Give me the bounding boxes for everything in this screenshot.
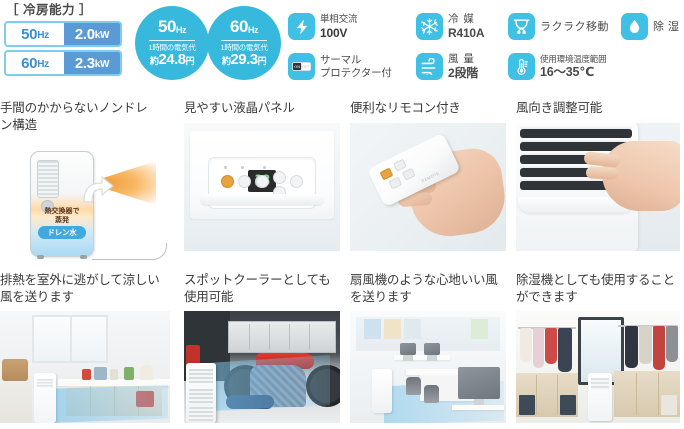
remote-brand-mark: REMOTE: [421, 170, 441, 183]
caster-wheel-icon: [508, 13, 535, 40]
office-photo: [350, 311, 506, 423]
feature-caption: スポットクーラーとしても使用可能: [184, 272, 340, 305]
product-feature-page: ［ 冷房能力 ］ 50Hz 2.0kW 60Hz 2.3kW 50Hz 1時間の…: [0, 0, 684, 429]
feature-cell-remote: 便利なリモコン付き REMOTE: [350, 100, 510, 251]
hanging-garment: [625, 326, 638, 368]
cool-airflow: [210, 355, 330, 411]
swing-button[interactable]: [290, 175, 303, 188]
desk-item: [140, 365, 154, 380]
status-led: [241, 166, 244, 169]
power-cord: [92, 243, 167, 260]
capacity-row-50hz: 50Hz 2.0kW: [4, 21, 122, 47]
capacity-50hz-value: 2.0kW: [64, 23, 120, 45]
cost-badge-50hz: 50Hz 1時間の電気代 約24.8円: [135, 6, 209, 80]
evaporation-label: 熱交換器で 蒸発: [31, 208, 93, 225]
wall-poster: [384, 319, 401, 339]
feature-caption: 除湿機としても使用することができます: [516, 272, 676, 305]
storage-cube: [661, 395, 677, 415]
thermometer-icon: [508, 53, 535, 80]
spec-item-thermal-protector: ON OFF サーマル プロテクター付: [288, 53, 392, 80]
spec-item-mobility-text: ラクラク移動: [540, 21, 609, 33]
desk: [452, 405, 504, 410]
desk-item: [94, 367, 107, 380]
timer-button[interactable]: [256, 175, 269, 188]
feature-caption: 手間のかからないノンドレン構造: [0, 100, 152, 133]
cool-airflow: [50, 385, 168, 423]
feature-cell-fan-like: 扇風機のような心地いい風を送ります: [350, 272, 510, 423]
monitor: [424, 343, 440, 355]
remote-power-button[interactable]: [380, 167, 394, 180]
unit-foot: [80, 255, 87, 259]
closet-photo: [516, 311, 680, 423]
nondrain-illustration: 熱交換器で 蒸発 ドレン水: [0, 139, 170, 267]
unit-foot: [37, 255, 44, 259]
spec-item-refrigerant-text: 冷 媒 R410A: [448, 13, 484, 40]
feature-cell-nondrain: 手間のかからないノンドレン構造 熱交換器で 蒸発 ドレン水: [0, 100, 172, 267]
window: [32, 315, 108, 363]
hanging-garment: [558, 328, 572, 372]
spec-item-dehumidify: 除 湿: [621, 13, 680, 40]
cost-badge-60hz: 60Hz 1時間の電気代 約29.3円: [207, 6, 281, 80]
portable-ac-unit: [372, 369, 392, 413]
feature-caption: 見やすい液晶パネル: [184, 100, 344, 117]
spec-item-refrigerant: 冷 媒 R410A: [416, 13, 484, 40]
feature-caption: 風向き調整可能: [516, 100, 684, 117]
spec-item-power: 単相交流 100V: [288, 13, 357, 40]
hanging-garment: [653, 326, 665, 370]
office-chair: [424, 385, 439, 403]
spec-item-temp-range-text: 使用環境温度範囲 16〜35℃: [540, 54, 606, 79]
unit-front-body: 28 MAC-20N: [190, 131, 334, 219]
snowflake-icon: [416, 13, 443, 40]
unit-air-outlet: [200, 194, 324, 205]
feature-cell-spot-cooler: スポットクーラーとしても使用可能: [184, 272, 344, 423]
unit-grille: [37, 160, 59, 198]
feature-cell-lcd-panel: 見やすい液晶パネル 28: [184, 100, 344, 251]
lightning-bolt-icon: [288, 13, 315, 40]
spec-item-airflow: 風 量 2段階: [416, 53, 478, 80]
feature-cell-louver: 風向き調整可能: [516, 100, 684, 251]
monitor: [458, 367, 500, 399]
spec-item-mobility: ラクラク移動: [508, 13, 609, 40]
desk-item: [110, 369, 118, 380]
monitor: [400, 343, 416, 355]
drain-water-label: ドレン水: [38, 226, 86, 239]
feature-cell-dehumidifier: 除湿機としても使用することができます: [516, 272, 684, 423]
bed-headboard: [2, 359, 28, 381]
cost-badge-60hz-hz: 60Hz: [230, 18, 258, 38]
desk-item: [82, 369, 91, 380]
svg-text:OFF: OFF: [302, 64, 309, 69]
spec-item-dehumidify-text: 除 湿: [653, 21, 680, 33]
feature-cell-exhaust-outside: 排熱を室外に逃がして涼しい風を送ります: [0, 272, 172, 423]
hanging-garment: [545, 328, 557, 364]
garage-photo: [184, 311, 340, 423]
portable-ac-unit: [186, 363, 216, 423]
water-drop-icon: [621, 13, 648, 40]
airflow-arrow-icon: [80, 175, 114, 205]
remote-control-photo: REMOTE: [350, 123, 506, 251]
temp-up-button[interactable]: [273, 171, 286, 184]
hanging-garment: [520, 328, 532, 362]
spec-strip: ［ 冷房能力 ］ 50Hz 2.0kW 60Hz 2.3kW 50Hz 1時間の…: [0, 0, 684, 96]
hanging-garment: [666, 326, 678, 362]
status-led: [263, 166, 266, 169]
cooling-capacity-title: ［ 冷房能力 ］: [6, 2, 132, 18]
hanging-garment: [533, 328, 544, 368]
hanging-garment: [639, 326, 652, 364]
power-button[interactable]: [221, 175, 234, 188]
capacity-60hz-label: 60Hz: [6, 52, 64, 74]
portable-ac-unit: [34, 373, 56, 423]
storage-cube: [560, 395, 576, 415]
cost-badge-50hz-value: 約24.8円: [150, 52, 194, 69]
feature-caption: 扇風機のような心地いい風を送ります: [350, 272, 506, 305]
spec-item-thermal-protector-text: サーマル プロテクター付: [320, 54, 392, 79]
on-off-switch-icon: ON OFF: [288, 53, 315, 80]
louver-slat: [520, 129, 632, 138]
cost-badge-divider: [149, 40, 195, 41]
finger: [586, 166, 618, 179]
desk: [58, 379, 170, 386]
capacity-60hz-value: 2.3kW: [64, 52, 120, 74]
remote-fan-button[interactable]: [402, 167, 416, 180]
lcd-panel-photo: 28 MAC-20N: [184, 123, 340, 251]
wall-poster: [404, 319, 421, 339]
bedroom-photo: [0, 311, 170, 423]
desk-item: [124, 367, 134, 380]
svg-text:ON: ON: [294, 64, 300, 69]
wind-icon: [416, 53, 443, 80]
remote-mode-button[interactable]: [393, 158, 407, 171]
cooling-capacity-block: ［ 冷房能力 ］ 50Hz 2.0kW 60Hz 2.3kW: [4, 2, 132, 76]
mode-button[interactable]: [238, 175, 251, 188]
cost-badge-50hz-hz: 50Hz: [158, 18, 186, 38]
spec-item-power-text: 単相交流 100V: [320, 14, 357, 40]
capacity-row-60hz: 60Hz 2.3kW: [4, 50, 122, 76]
wall-poster: [364, 319, 381, 339]
spec-item-airflow-text: 風 量 2段階: [448, 53, 478, 80]
feature-caption: 便利なリモコン付き: [350, 100, 510, 117]
office-chair: [406, 377, 421, 395]
remote-temp-button[interactable]: [388, 176, 402, 189]
cost-badge-divider: [221, 40, 267, 41]
cost-badge-60hz-value: 約29.3円: [222, 52, 266, 69]
wall-poster: [471, 319, 488, 339]
storage-cube: [519, 395, 535, 415]
spec-item-temp-range: 使用環境温度範囲 16〜35℃: [508, 53, 606, 80]
status-led: [224, 166, 227, 169]
portable-ac-unit: [588, 373, 612, 421]
louver-adjust-photo: [516, 123, 680, 251]
feature-caption: 排熱を室外に逃がして涼しい風を送ります: [0, 272, 160, 305]
capacity-50hz-label: 50Hz: [6, 23, 64, 45]
